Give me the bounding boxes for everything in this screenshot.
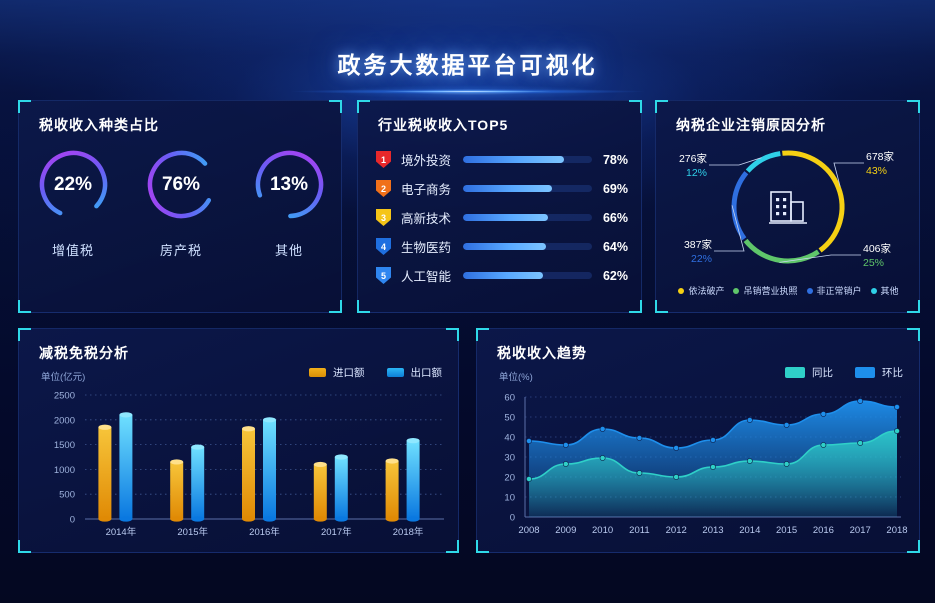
donut-segment[interactable]: [748, 154, 781, 172]
legend-item[interactable]: 出口额: [387, 365, 443, 380]
y-axis-tick-label: 40: [504, 433, 515, 444]
bar-cap: [335, 454, 348, 459]
x-axis-tick-label: 2010: [592, 525, 613, 536]
line-chart-unit-label: 单位(%): [499, 369, 533, 383]
legend-swatch-icon: [785, 367, 805, 378]
rank-badge-icon: 1: [376, 151, 391, 168]
dashboard-root: 政务大数据平台可视化 税收收入种类占比 22%增值税76%房产税13%其他 行业…: [0, 0, 935, 603]
legend-label: 环比: [882, 365, 903, 380]
panel-title-industry-top5: 行业税收收入TOP5: [378, 115, 508, 135]
rank-badge-icon: 2: [376, 180, 391, 197]
line-chart-svg: 0102030405060200820092010201120122013201…: [477, 387, 921, 552]
panel-title-tax-reduction: 减税免税分析: [39, 343, 129, 363]
bar-base: [191, 516, 204, 521]
corner-bracket-bottom-left: [357, 300, 370, 313]
gauge-1: 22%增值税: [19, 147, 127, 297]
gauge-label: 房产税: [160, 240, 202, 259]
bar-chart-legend: 进口额出口额: [309, 365, 442, 380]
data-point[interactable]: [858, 440, 863, 445]
data-point[interactable]: [526, 476, 531, 481]
donut-percent-label: 22%: [691, 253, 712, 265]
donut-legend-item[interactable]: 非正常销户: [807, 284, 862, 297]
bar[interactable]: [335, 457, 348, 519]
gauge-3: 13%其他: [235, 147, 343, 297]
x-axis-tick-label: 2016年: [249, 526, 280, 538]
ranking-percent-value: 66%: [592, 211, 628, 225]
x-axis-tick-label: 2016: [813, 525, 834, 536]
bar[interactable]: [242, 429, 255, 519]
ranking-bar-track: [463, 243, 592, 250]
bar-cap: [119, 412, 132, 417]
x-axis-tick-label: 2011: [629, 525, 649, 536]
data-point[interactable]: [784, 461, 789, 466]
ranking-item-label: 电子商务: [401, 179, 463, 198]
panel-tax-reduction-analysis: 减税免税分析 单位(亿元) 进口额出口额 0500100015002000250…: [18, 328, 459, 553]
corner-bracket-top-left: [655, 100, 668, 113]
y-axis-tick-label: 10: [504, 493, 515, 504]
ranking-bar-fill: [463, 214, 548, 221]
legend-label: 其他: [881, 284, 899, 297]
bar-cap: [98, 425, 111, 430]
data-point[interactable]: [784, 422, 789, 427]
ranking-row[interactable]: 1境外投资78%: [376, 145, 628, 174]
x-axis-tick-label: 2015: [776, 525, 797, 536]
donut-chart-cancellation: 678家43%406家25%387家22%276家12%: [656, 133, 921, 281]
gauge-value: 13%: [252, 147, 327, 222]
donut-count-label: 387家: [684, 238, 713, 251]
data-point[interactable]: [858, 398, 863, 403]
donut-percent-label: 43%: [866, 165, 887, 177]
corner-bracket-top-right: [907, 100, 920, 113]
bar-cap: [242, 426, 255, 431]
ranking-item-label: 境外投资: [401, 150, 463, 169]
bar-base: [98, 516, 111, 521]
donut-percent-label: 12%: [686, 167, 707, 179]
corner-bracket-top-right: [907, 328, 920, 341]
gauge-ring: 22%: [36, 147, 111, 222]
bar[interactable]: [263, 420, 276, 519]
legend-label: 进口额: [333, 365, 365, 380]
data-point[interactable]: [747, 417, 752, 422]
ranking-item-label: 生物医药: [401, 237, 463, 256]
y-axis-tick-label: 30: [504, 453, 515, 464]
bar-cap: [170, 459, 183, 464]
panel-tax-revenue-trend: 税收收入趋势 单位(%) 同比环比 0102030405060200820092…: [476, 328, 920, 553]
x-axis-tick-label: 2018: [886, 525, 907, 536]
data-point[interactable]: [821, 442, 826, 447]
bar-base: [263, 516, 276, 521]
legend-item[interactable]: 进口额: [309, 365, 365, 380]
gauge-label: 其他: [275, 240, 303, 259]
donut-svg: 678家43%406家25%387家22%276家12%: [656, 133, 921, 281]
legend-swatch-icon: [855, 367, 875, 378]
legend-dot-icon: [678, 288, 684, 294]
legend-label: 同比: [812, 365, 833, 380]
rank-badge-icon: 5: [376, 267, 391, 284]
gauge-ring: 76%: [144, 147, 219, 222]
legend-dot-icon: [733, 288, 739, 294]
x-axis-tick-label: 2009: [555, 525, 576, 536]
bar-cap: [314, 462, 327, 467]
bar-chart-unit-label: 单位(亿元): [41, 369, 85, 383]
legend-dot-icon: [871, 288, 877, 294]
panel-title-tax-revenue-trend: 税收收入趋势: [497, 343, 587, 363]
legend-label: 依法破产: [688, 284, 724, 297]
legend-swatch-icon: [387, 368, 404, 377]
gauge-ring: 13%: [252, 147, 327, 222]
data-point[interactable]: [674, 445, 679, 450]
y-axis-tick-label: 1000: [54, 465, 75, 476]
bar-base: [314, 516, 327, 521]
data-point[interactable]: [821, 411, 826, 416]
gauge-value: 22%: [36, 147, 111, 222]
ranking-bar-track: [463, 214, 592, 221]
corner-bracket-top-left: [357, 100, 370, 113]
bar-base: [407, 516, 420, 521]
line-chart-legend: 同比环比: [785, 365, 903, 380]
corner-bracket-top-right: [629, 100, 642, 113]
corner-bracket-bottom-left: [18, 300, 31, 313]
ranking-bar-fill: [463, 185, 552, 192]
legend-item[interactable]: 环比: [855, 365, 903, 380]
corner-bracket-top-right: [329, 100, 342, 113]
bar[interactable]: [386, 461, 399, 519]
ranking-percent-value: 64%: [592, 240, 628, 254]
gauge-group: 22%增值税76%房产税13%其他: [19, 147, 343, 297]
corner-bracket-top-left: [18, 100, 31, 113]
x-axis-tick-label: 2015年: [177, 526, 208, 538]
data-point[interactable]: [600, 426, 605, 431]
corner-bracket-top-right: [446, 328, 459, 341]
ranking-bar-track: [463, 185, 592, 192]
ranking-bar-fill: [463, 243, 546, 250]
gauge-label: 增值税: [52, 240, 94, 259]
legend-item[interactable]: 同比: [785, 365, 833, 380]
data-point[interactable]: [563, 461, 568, 466]
donut-count-label: 678家: [866, 150, 895, 163]
panel-tax-type-ratio: 税收收入种类占比 22%增值税76%房产税13%其他: [18, 100, 342, 313]
x-axis-tick-label: 2014: [739, 525, 760, 536]
data-point[interactable]: [637, 470, 642, 475]
ranking-row[interactable]: 2电子商务69%: [376, 174, 628, 203]
ranking-row[interactable]: 5人工智能62%: [376, 261, 628, 290]
bar[interactable]: [170, 462, 183, 519]
y-axis-tick-label: 60: [504, 393, 515, 404]
donut-legend-item[interactable]: 依法破产: [678, 284, 724, 297]
data-point[interactable]: [526, 438, 531, 443]
donut-segment[interactable]: [746, 240, 819, 261]
bar-base: [170, 516, 183, 521]
ranking-bar-track: [463, 272, 592, 279]
data-point[interactable]: [747, 458, 752, 463]
legend-dot-icon: [807, 288, 813, 294]
data-point[interactable]: [600, 455, 605, 460]
bar-chart-svg: 050010001500200025002014年2015年2016年2017年…: [19, 387, 460, 552]
y-axis-tick-label: 0: [70, 515, 75, 526]
header-glow-line: [290, 89, 646, 94]
donut-legend-item[interactable]: 吊销营业执照: [733, 284, 797, 297]
y-axis-tick-label: 2500: [54, 391, 75, 402]
x-axis-tick-label: 2018年: [393, 526, 424, 538]
building-icon: [769, 192, 807, 223]
page-title: 政务大数据平台可视化: [0, 46, 935, 80]
bar-cap: [407, 438, 420, 443]
y-axis-tick-label: 20: [504, 473, 515, 484]
data-point[interactable]: [710, 464, 715, 469]
corner-bracket-top-left: [18, 328, 31, 341]
ranking-item-label: 高新技术: [401, 208, 463, 227]
x-axis-tick-label: 2012: [666, 525, 687, 536]
y-axis-tick-label: 1500: [54, 440, 75, 451]
ranking-bar-track: [463, 156, 592, 163]
ranking-percent-value: 78%: [592, 153, 628, 167]
donut-legend: 依法破产吊销营业执照非正常销户其他: [656, 284, 921, 297]
bar-cap: [386, 458, 399, 463]
corner-bracket-bottom-right: [629, 300, 642, 313]
bar-cap: [263, 417, 276, 422]
gauge-2: 76%房产税: [127, 147, 235, 297]
donut-segment[interactable]: [734, 173, 746, 239]
corner-bracket-bottom-right: [907, 300, 920, 313]
panel-title-tax-type-ratio: 税收收入种类占比: [39, 115, 159, 135]
legend-label: 出口额: [411, 365, 443, 380]
corner-bracket-top-left: [476, 328, 489, 341]
legend-label: 非正常销户: [817, 284, 862, 297]
ranking-bar-fill: [463, 272, 543, 279]
bar-base: [386, 516, 399, 521]
y-axis-tick-label: 50: [504, 413, 515, 424]
donut-count-label: 276家: [679, 152, 708, 165]
corner-bracket-bottom-left: [655, 300, 668, 313]
bar-base: [242, 516, 255, 521]
bar[interactable]: [314, 464, 327, 519]
corner-bracket-bottom-right: [329, 300, 342, 313]
y-axis-tick-label: 0: [510, 513, 515, 524]
x-axis-tick-label: 2017年: [321, 526, 352, 538]
ranking-list: 1境外投资78%2电子商务69%3高新技术66%4生物医药64%5人工智能62%: [376, 145, 628, 290]
bar-base: [119, 516, 132, 521]
rank-badge-icon: 4: [376, 238, 391, 255]
ranking-row[interactable]: 3高新技术66%: [376, 203, 628, 232]
bar-base: [335, 516, 348, 521]
x-axis-tick-label: 2017: [850, 525, 871, 536]
x-axis-tick-label: 2013: [702, 525, 723, 536]
x-axis-tick-label: 2008: [518, 525, 539, 536]
y-axis-tick-label: 2000: [54, 415, 75, 426]
panel-industry-top5: 行业税收收入TOP5 1境外投资78%2电子商务69%3高新技术66%4生物医药…: [357, 100, 642, 313]
donut-count-label: 406家: [863, 242, 892, 255]
bar[interactable]: [407, 441, 420, 519]
ranking-row[interactable]: 4生物医药64%: [376, 232, 628, 261]
panel-cancellation-reasons: 纳税企业注销原因分析 678家43%406家25%387家22%276家12% …: [655, 100, 920, 313]
data-point[interactable]: [674, 474, 679, 479]
ranking-item-label: 人工智能: [401, 266, 463, 285]
dashboard-header: 政务大数据平台可视化: [0, 0, 935, 96]
ranking-bar-fill: [463, 156, 564, 163]
bar-cap: [191, 444, 204, 449]
data-point[interactable]: [894, 428, 899, 433]
bar[interactable]: [98, 427, 111, 519]
rank-badge-icon: 3: [376, 209, 391, 226]
donut-legend-item[interactable]: 其他: [871, 284, 899, 297]
y-axis-tick-label: 500: [59, 490, 75, 501]
ranking-percent-value: 69%: [592, 182, 628, 196]
bar[interactable]: [119, 415, 132, 519]
bar[interactable]: [191, 447, 204, 519]
data-point[interactable]: [637, 435, 642, 440]
data-point[interactable]: [563, 442, 568, 447]
gauge-value: 76%: [144, 147, 219, 222]
panel-title-cancellation-reasons: 纳税企业注销原因分析: [676, 115, 826, 135]
ranking-percent-value: 62%: [592, 269, 628, 283]
data-point[interactable]: [710, 437, 715, 442]
legend-label: 吊销营业执照: [743, 284, 797, 297]
data-point[interactable]: [894, 404, 899, 409]
x-axis-tick-label: 2014年: [106, 526, 137, 538]
legend-swatch-icon: [309, 368, 326, 377]
donut-percent-label: 25%: [863, 257, 884, 269]
